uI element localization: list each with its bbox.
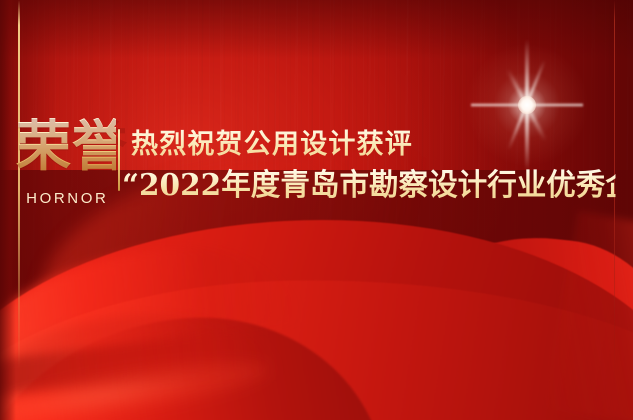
headline-line-1: 热烈祝贺公用设计获评 — [131, 128, 623, 162]
honor-label-cn: 荣誉 — [16, 118, 116, 174]
headline-line-2: “2022年度青岛市勘察设计行业优秀企业”等荣誉 — [122, 168, 615, 204]
honor-label-en: HORNOR — [16, 190, 116, 207]
headline-block: 热烈祝贺公用设计获评 “2022年度青岛市勘察设计行业优秀企业”等荣誉 — [131, 128, 623, 204]
vertical-divider — [118, 129, 120, 191]
banner-content: 荣誉 HORNOR 热烈祝贺公用设计获评 “2022年度青岛市勘察设计行业优秀企… — [0, 0, 633, 420]
honor-label-block: 荣誉 HORNOR — [16, 118, 116, 207]
honor-banner: 荣誉 HORNOR 热烈祝贺公用设计获评 “2022年度青岛市勘察设计行业优秀企… — [0, 0, 633, 420]
